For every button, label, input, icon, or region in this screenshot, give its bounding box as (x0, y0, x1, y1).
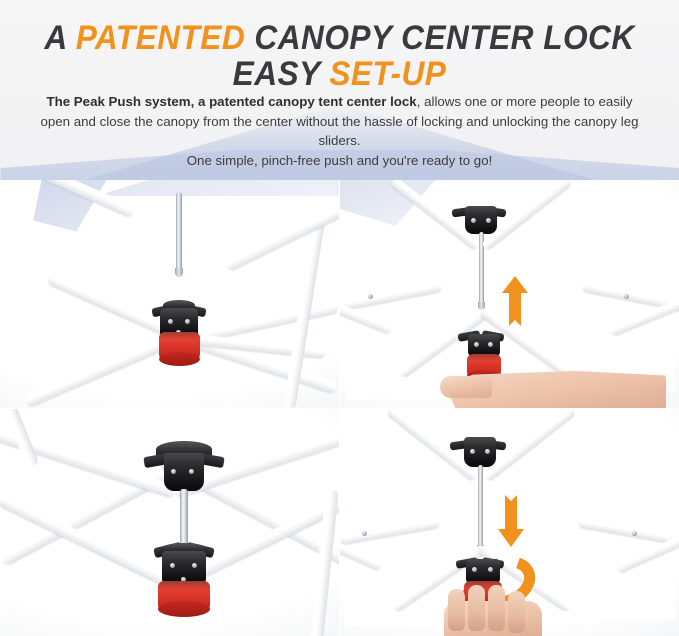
top-bracket-screw (486, 218, 491, 223)
hub-screw (474, 342, 479, 347)
hub-screw (488, 567, 493, 572)
hub-screw (170, 563, 175, 568)
hub-screw (171, 469, 176, 474)
photo-grid (0, 180, 679, 636)
headline-block: A PATENTED CANOPY CENTER LOCK EASY SET-U… (0, 20, 679, 92)
headline-line-1: A PATENTED CANOPY CENTER LOCK (24, 20, 655, 56)
headline-text-easy: EASY (233, 55, 330, 93)
description-bold-lead: The Peak Push system, a patented canopy … (46, 94, 416, 109)
headline-accent-patented: PATENTED (76, 19, 245, 57)
top-bracket-body (464, 437, 496, 467)
headline-accent-setup: SET-UP (329, 55, 446, 93)
hand-thumb (440, 376, 492, 398)
panel-top-right (340, 180, 679, 408)
hub-red-base-bottom (158, 601, 210, 617)
push-rod (478, 465, 483, 547)
hub-screw (189, 469, 194, 474)
hub-body (468, 334, 500, 356)
panel-bottom-right (340, 409, 679, 636)
panel-top-left (0, 180, 339, 408)
hub-screw (168, 319, 173, 324)
arrow-down-svg (498, 495, 524, 547)
top-bracket-body (465, 206, 497, 234)
truss-joint-pin (624, 294, 629, 299)
panel-bottom-left-image (0, 409, 339, 636)
truss-joint-pin (368, 294, 373, 299)
headline-text-a: A (44, 19, 75, 57)
truss-joint-pin (632, 531, 637, 536)
description-closing-line: One simple, pinch-free push and you're r… (187, 153, 493, 168)
headline-line-2: EASY SET-UP (24, 56, 655, 92)
truss-joint-pin (362, 531, 367, 536)
panel-bottom-left (0, 409, 339, 636)
top-bracket-screw (470, 449, 475, 454)
description-paragraph: The Peak Push system, a patented canopy … (0, 92, 679, 170)
panel-top-left-image (0, 180, 339, 408)
arrow-down-icon (498, 495, 524, 547)
hub-upper-body (164, 453, 204, 491)
hub-screw (192, 563, 197, 568)
panel-bottom-right-image (340, 409, 679, 636)
top-bracket-screw (471, 218, 476, 223)
hand-finger (508, 591, 525, 633)
hub-screw (185, 319, 190, 324)
top-bracket-screw (485, 449, 490, 454)
product-infographic: A PATENTED CANOPY CENTER LOCK EASY SET-U… (0, 0, 679, 636)
hub-red-base-bottom (159, 352, 200, 366)
push-rod (176, 192, 182, 270)
arrow-up-icon (502, 276, 528, 326)
hand-finger (468, 585, 485, 631)
headline-text-canopy-center-lock: CANOPY CENTER LOCK (245, 19, 634, 57)
hand-finger (488, 585, 505, 631)
hub-body (466, 559, 500, 583)
hub-screw (472, 567, 477, 572)
hand-finger (448, 589, 465, 631)
arrow-up-svg (502, 276, 528, 326)
panel-top-right-image (340, 180, 679, 408)
header-section: A PATENTED CANOPY CENTER LOCK EASY SET-U… (0, 0, 679, 180)
push-rod (180, 489, 188, 545)
hub-screw (488, 342, 493, 347)
push-rod-tip (175, 268, 183, 277)
